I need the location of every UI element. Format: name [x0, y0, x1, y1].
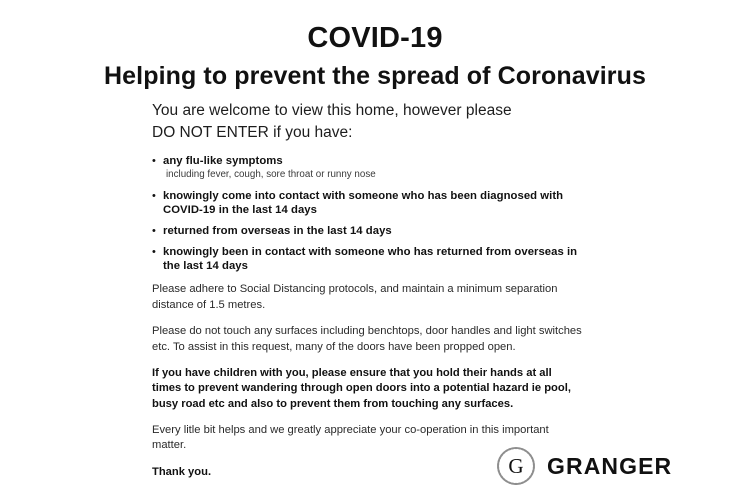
page-subtitle: Helping to prevent the spread of Coronav…	[0, 61, 750, 91]
list-item-main: returned from overseas in the last 14 da…	[163, 224, 584, 238]
list-item: • any flu-like symptoms including fever,…	[152, 154, 584, 182]
list-item-main: knowingly come into contact with someone…	[163, 189, 584, 217]
bullet-dot-icon: •	[152, 245, 156, 259]
list-item-main: any flu-like symptoms	[163, 154, 584, 168]
svg-text:G: G	[508, 454, 523, 478]
list-item-sub: including fever, cough, sore throat or r…	[163, 169, 584, 182]
granger-logo: G GRANGER	[493, 443, 672, 489]
paragraph-surfaces: Please do not touch any surfaces includi…	[152, 324, 584, 355]
logo-wordmark: GRANGER	[547, 455, 672, 478]
list-item: • returned from overseas in the last 14 …	[152, 224, 584, 238]
page-title: COVID-19	[0, 22, 750, 55]
covid-notice-poster: COVID-19 Helping to prevent the spread o…	[0, 0, 750, 500]
body-column: You are welcome to view this home, howev…	[152, 100, 584, 480]
bullet-dot-icon: •	[152, 154, 156, 168]
paragraph-social-distancing: Please adhere to Social Distancing proto…	[152, 282, 584, 313]
list-item-main: knowingly been in contact with someone w…	[163, 245, 584, 273]
bullet-dot-icon: •	[152, 189, 156, 203]
list-item: • knowingly been in contact with someone…	[152, 245, 584, 273]
intro-line-1: You are welcome to view this home, howev…	[152, 100, 584, 122]
conditions-list: • any flu-like symptoms including fever,…	[152, 154, 584, 273]
laurel-wreath-icon: G	[493, 443, 539, 489]
intro-text: You are welcome to view this home, howev…	[152, 100, 584, 144]
intro-line-2: DO NOT ENTER if you have:	[152, 122, 584, 144]
paragraph-children: If you have children with you, please en…	[152, 366, 584, 412]
bullet-dot-icon: •	[152, 224, 156, 238]
heading-block: COVID-19 Helping to prevent the spread o…	[0, 0, 750, 91]
list-item: • knowingly come into contact with someo…	[152, 189, 584, 217]
